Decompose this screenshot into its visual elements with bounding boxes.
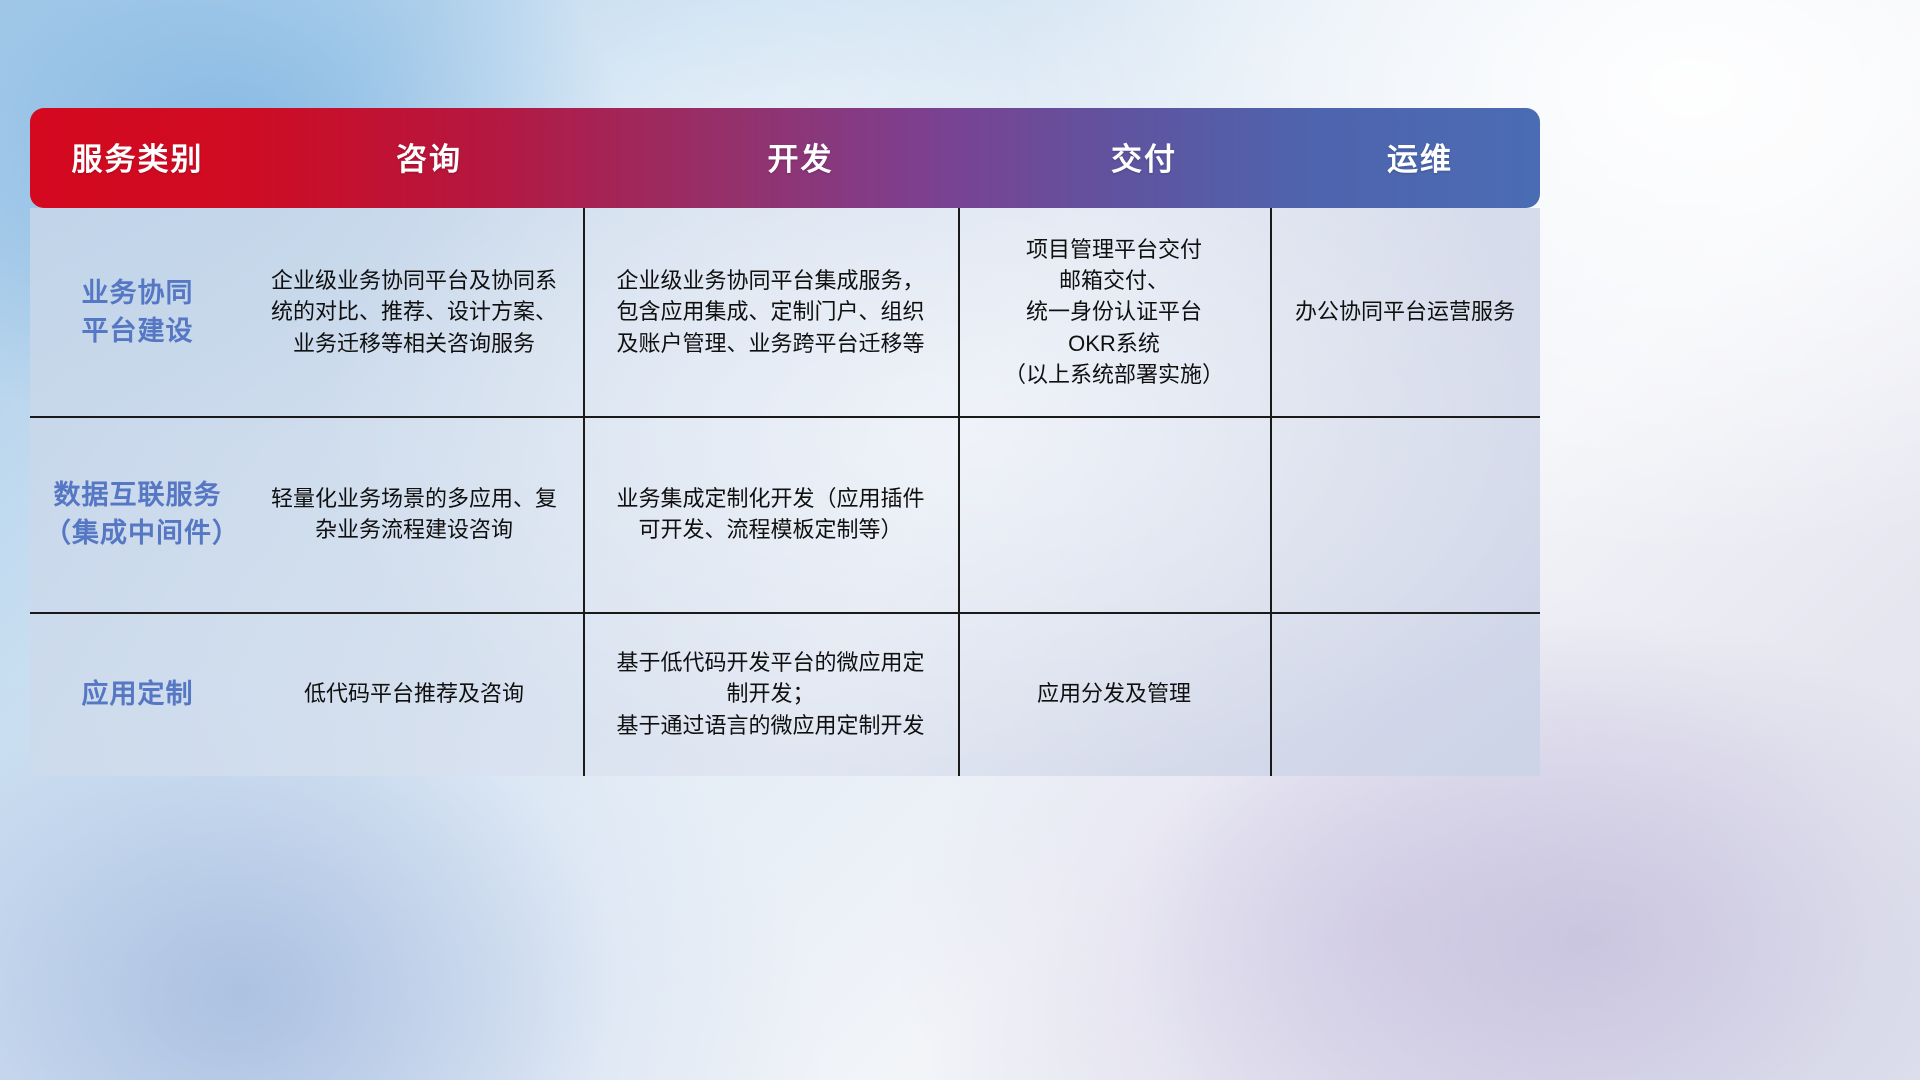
table-body: 业务协同 平台建设 企业级业务协同平台及协同系 统的对比、推荐、设计方案、 业务…: [30, 208, 1540, 776]
row-label-application-customization: 应用定制: [30, 612, 245, 776]
cell-r1-development: 业务集成定制化开发（应用插件 可开发、流程模板定制等）: [583, 416, 958, 612]
cell-r2-consulting: 低代码平台推荐及咨询: [245, 612, 583, 776]
table-row-divider: [30, 612, 1540, 614]
table-row-divider: [30, 416, 1540, 418]
cell-r0-consulting: 企业级业务协同平台及协同系 统的对比、推荐、设计方案、 业务迁移等相关咨询服务: [245, 208, 583, 416]
table-column-divider: [1270, 208, 1272, 776]
table-row: 应用定制 低代码平台推荐及咨询 基于低代码开发平台的微应用定 制开发； 基于通过…: [30, 612, 1540, 776]
table-header-cell-delivery: 交付: [988, 108, 1300, 208]
cell-r2-delivery: 应用分发及管理: [958, 612, 1270, 776]
table-header-cell-operations: 运维: [1300, 108, 1540, 208]
cell-r0-development: 企业级业务协同平台集成服务， 包含应用集成、定制门户、组织 及账户管理、业务跨平…: [583, 208, 958, 416]
table-column-divider: [958, 208, 960, 776]
table-header-row: 服务类别 咨询 开发 交付 运维: [30, 108, 1540, 208]
cell-r0-operations: 办公协同平台运营服务: [1270, 208, 1540, 416]
table-header-cell-development: 开发: [613, 108, 988, 208]
table-row: 业务协同 平台建设 企业级业务协同平台及协同系 统的对比、推荐、设计方案、 业务…: [30, 208, 1540, 416]
cell-r2-development: 基于低代码开发平台的微应用定 制开发； 基于通过语言的微应用定制开发: [583, 612, 958, 776]
table-row: 数据互联服务 （集成中间件） 轻量化业务场景的多应用、复 杂业务流程建设咨询 业…: [30, 416, 1540, 612]
table-header-cell-service-category: 服务类别: [30, 108, 245, 208]
table-column-divider: [583, 208, 585, 776]
row-label-business-collaboration-platform: 业务协同 平台建设: [30, 208, 245, 416]
cell-r1-operations: [1270, 416, 1540, 612]
cell-r1-delivery: [958, 416, 1270, 612]
cell-r0-delivery: 项目管理平台交付 邮箱交付、 统一身份认证平台 OKR系统 （以上系统部署实施）: [958, 208, 1270, 416]
row-label-data-interconnect-service: 数据互联服务 （集成中间件）: [30, 416, 245, 612]
service-matrix-table: 服务类别 咨询 开发 交付 运维 业务协同 平台建设 企业级业务协同平台及协同系…: [30, 108, 1540, 776]
cell-r2-operations: [1270, 612, 1540, 776]
table-header-cell-consulting: 咨询: [245, 108, 613, 208]
cell-r1-consulting: 轻量化业务场景的多应用、复 杂业务流程建设咨询: [245, 416, 583, 612]
